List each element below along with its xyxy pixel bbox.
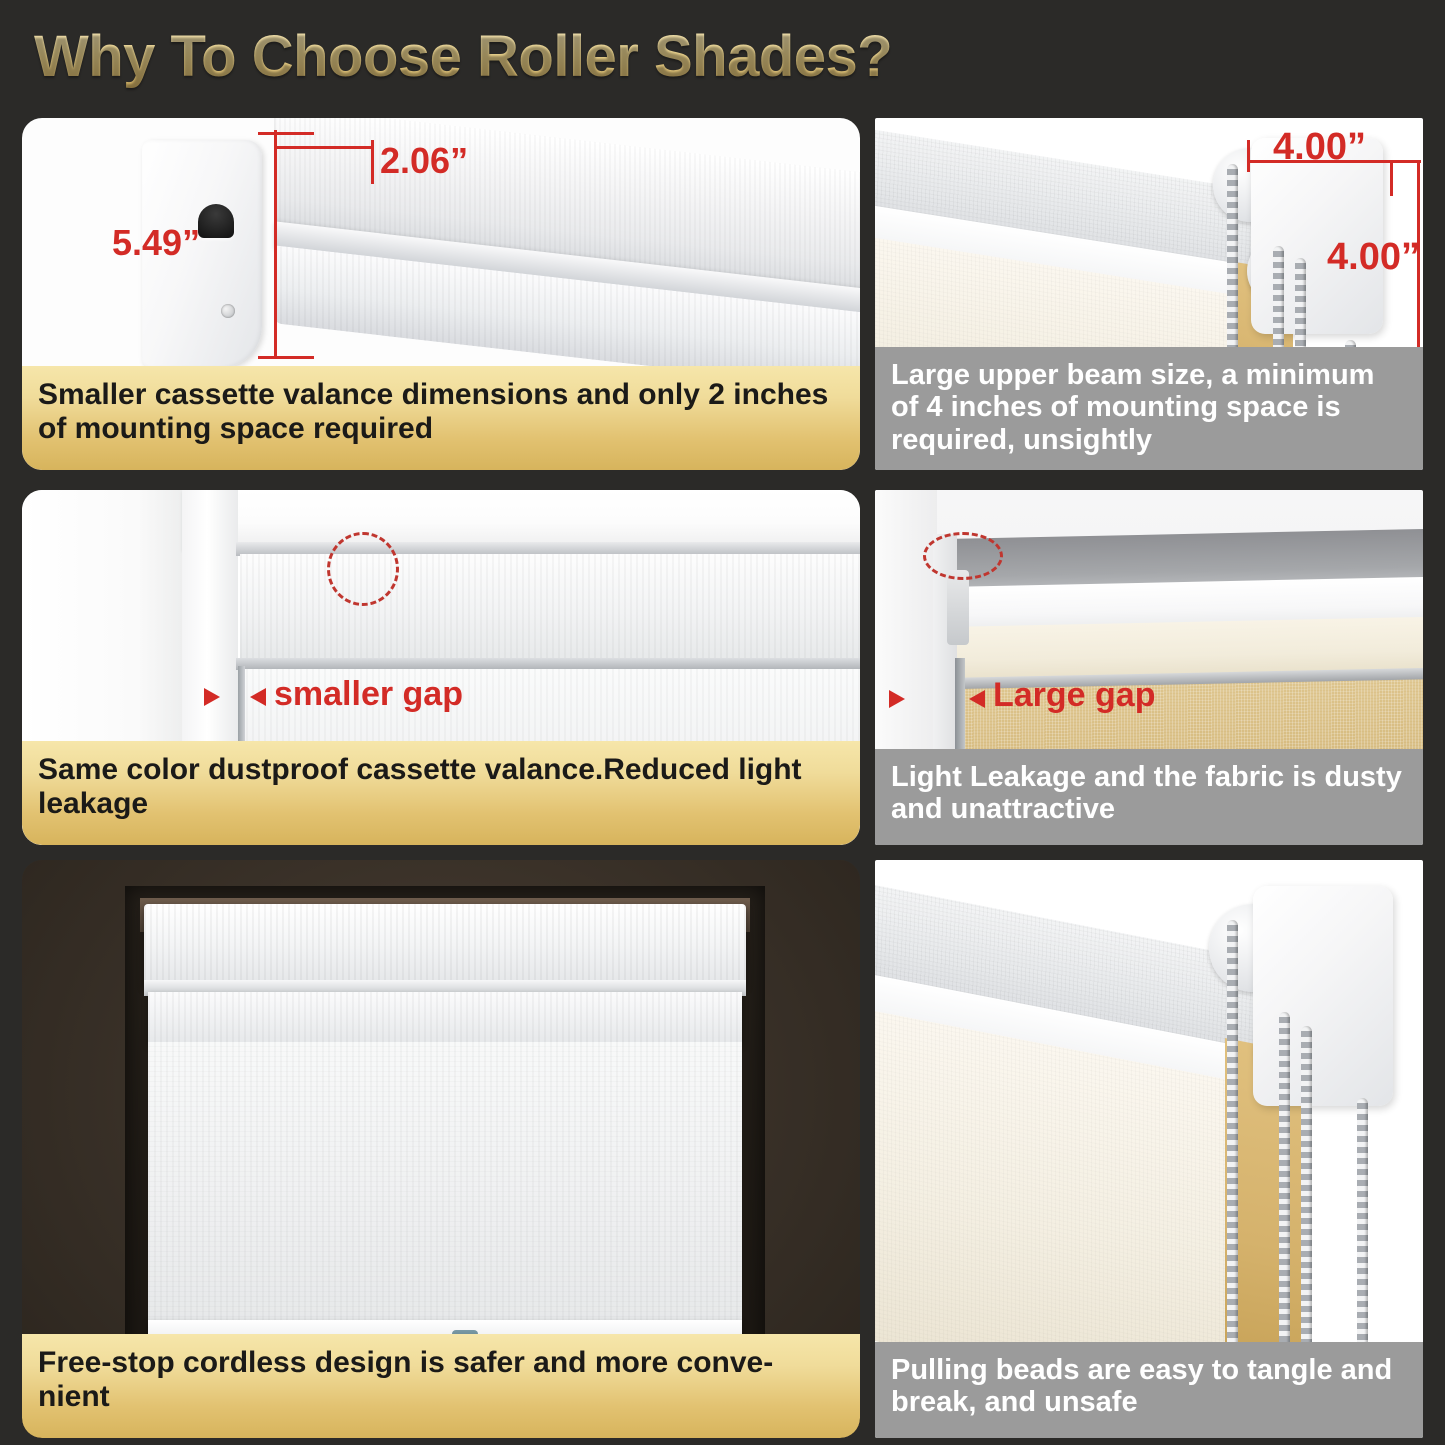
gap-arrow-right bbox=[250, 688, 266, 706]
panel-top-left: 2.06” 5.49” Smaller cassette valance dim… bbox=[22, 118, 860, 470]
caption-bottom-right: Pulling beads are easy to tangle and bre… bbox=[875, 1342, 1423, 1438]
gap-arrow-right bbox=[969, 690, 985, 708]
valance-screw bbox=[221, 304, 235, 318]
width-dimension-line bbox=[274, 146, 374, 149]
beam-height-tick-top bbox=[1375, 160, 1421, 163]
caption-middle-left: Same color dustproof cassette valance.Re… bbox=[22, 741, 860, 845]
height-dimension-label: 5.49” bbox=[112, 222, 200, 264]
panel-bottom-left: Free-stop cordless design is safer and m… bbox=[22, 860, 860, 1438]
gap-arrow-left bbox=[204, 688, 220, 706]
shade-bracket bbox=[947, 570, 969, 645]
window-frame-top bbox=[182, 490, 860, 550]
height-tick-bottom bbox=[258, 356, 314, 359]
valance-body bbox=[274, 118, 860, 405]
panel-middle-left: smaller gap Same color dustproof cassett… bbox=[22, 490, 860, 845]
panel-middle-right: Large gap Light Leakage and the fabric i… bbox=[875, 490, 1423, 845]
caption-top-right: Large upper beam size, a minimum of 4 in… bbox=[875, 347, 1423, 470]
comparison-grid: 2.06” 5.49” Smaller cassette valance dim… bbox=[0, 112, 1445, 1445]
panel-top-right: 4.00” 4.00” Large upper beam size, a min… bbox=[875, 118, 1423, 470]
mounting-bracket bbox=[1253, 886, 1393, 1106]
beam-width-tick-right bbox=[1390, 160, 1393, 196]
height-tick-top bbox=[258, 132, 314, 135]
width-dimension-label: 2.06” bbox=[380, 140, 468, 182]
caption-bottom-left: Free-stop cordless design is safer and m… bbox=[22, 1334, 860, 1438]
bead-chain-2[interactable] bbox=[1279, 1012, 1290, 1372]
highlight-ellipse bbox=[923, 532, 1003, 580]
shade-valance-bottom bbox=[148, 992, 742, 1044]
height-dimension-line bbox=[274, 132, 277, 358]
panel-bottom-right: Pulling beads are easy to tangle and bre… bbox=[875, 860, 1423, 1438]
beam-height-dimension-label: 4.00” bbox=[1327, 236, 1420, 279]
beam-width-tick-left bbox=[1247, 140, 1250, 172]
caption-top-left: Smaller cassette valance dimensions and … bbox=[22, 366, 860, 470]
page-header: Why To Choose Roller Shades? bbox=[0, 0, 1445, 112]
shade-fabric bbox=[148, 1042, 742, 1332]
page-title: Why To Choose Roller Shades? bbox=[34, 23, 892, 90]
gap-callout-label: smaller gap bbox=[274, 675, 463, 714]
gap-callout-label: Large gap bbox=[993, 676, 1155, 715]
bead-chain-4[interactable] bbox=[1357, 1098, 1368, 1372]
width-tick-right bbox=[371, 140, 374, 184]
beam-width-dimension-label: 4.00” bbox=[1273, 126, 1366, 169]
caption-middle-right: Light Leakage and the fabric is dusty an… bbox=[875, 749, 1423, 845]
bead-chain-3[interactable] bbox=[1301, 1026, 1312, 1372]
highlight-ellipse bbox=[327, 532, 399, 606]
gap-arrow-left bbox=[889, 690, 905, 708]
bead-chain-1[interactable] bbox=[1227, 920, 1238, 1372]
valance-slot bbox=[198, 204, 234, 238]
shade-valance-top bbox=[144, 904, 746, 986]
